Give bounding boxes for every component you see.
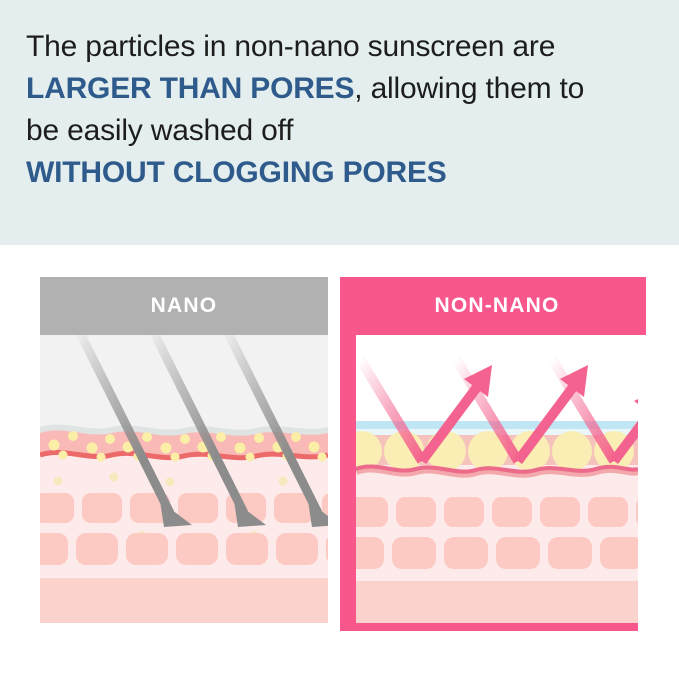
- dermis-cell-row-2: [40, 533, 328, 565]
- panel-nano: NANO: [40, 277, 328, 623]
- headline-text-plain-2: , allowing them to: [354, 72, 584, 105]
- panel-non-nano-header: NON-NANO: [348, 277, 646, 335]
- headline-band: The particles in non-nano sunscreen are …: [0, 0, 679, 245]
- nano-skin-cross-section: [40, 335, 328, 623]
- panel-non-nano-body: [356, 335, 638, 623]
- headline-line-4: WITHOUT CLOGGING PORES: [26, 152, 657, 194]
- headline-text-plain-1: The particles in non-nano sunscreen are: [26, 30, 555, 63]
- dermis-cell-row-1: [356, 497, 638, 527]
- headline-line-1: The particles in non-nano sunscreen are: [26, 26, 657, 68]
- panel-non-nano-title: NON-NANO: [434, 294, 559, 318]
- headline-line-3: be easily washed off: [26, 110, 657, 152]
- headline-line-2: LARGER THAN PORES, allowing them to: [26, 68, 657, 110]
- panel-non-nano: NON-NANO: [340, 277, 638, 631]
- comparison-diagram: NANO: [0, 245, 679, 679]
- panel-nano-body: [40, 335, 328, 623]
- headline-text-emphasis-1: LARGER THAN PORES: [26, 72, 354, 105]
- panel-nano-header: NANO: [40, 277, 328, 335]
- headline-text-emphasis-2: WITHOUT CLOGGING PORES: [26, 156, 447, 189]
- panel-nano-title: NANO: [151, 294, 218, 318]
- non-nano-skin-cross-section: [356, 335, 638, 623]
- headline-text-plain-3: be easily washed off: [26, 114, 293, 147]
